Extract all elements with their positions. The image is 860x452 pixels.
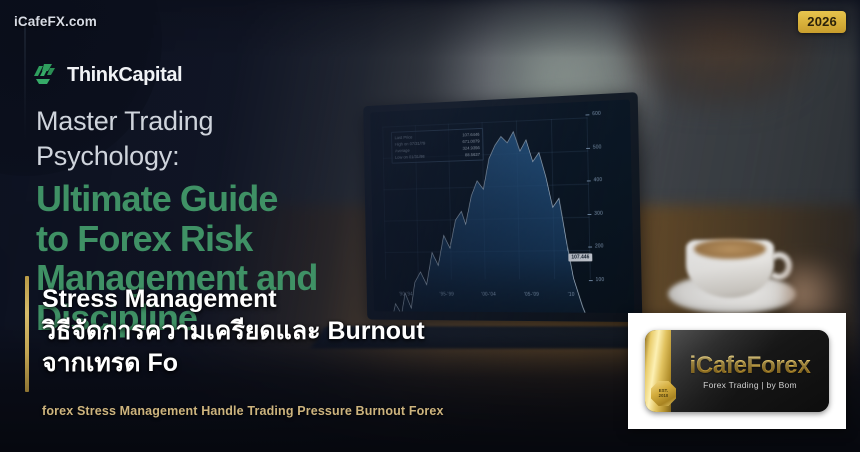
- tagline: forex Stress Management Handle Trading P…: [42, 404, 444, 418]
- article-kicker-line-1: Master Trading: [36, 104, 506, 139]
- article-headline-line-1: Ultimate Guide: [36, 179, 506, 219]
- overlay-headline: Stress Management วิธีจัดการความเครียดแล…: [42, 283, 642, 379]
- logo-title: iCafeForex: [671, 352, 829, 380]
- brand-name: ThinkCapital: [67, 64, 182, 87]
- article-kicker-line-2: Psychology:: [36, 139, 506, 174]
- logo-subtitle: Forex Trading | by Bom: [671, 380, 829, 390]
- seal-line-2: 2010: [659, 394, 669, 399]
- overlay-headline-line-2: วิธีจัดการความเครียดและ Burnout: [42, 315, 642, 347]
- promo-banner: Last Price 107.6446 High on 07/31/79 671…: [0, 0, 860, 452]
- article-kicker: Master Trading Psychology:: [36, 104, 506, 173]
- overlay-headline-line-3: จากเทรด Fo: [42, 347, 642, 379]
- est-seal-icon: EST. 2010: [651, 381, 676, 406]
- year-badge: 2026: [798, 11, 846, 33]
- site-watermark: iCafeFX.com: [14, 14, 97, 29]
- thinkcapital-logo-icon: [30, 60, 58, 91]
- article-headline-line-2: to Forex Risk: [36, 219, 506, 259]
- overlay-headline-line-1: Stress Management: [42, 283, 642, 315]
- logo-plate: iCafeForex Forex Trading | by Bom EST. 2…: [645, 330, 829, 412]
- corner-stem: [24, 20, 26, 140]
- accent-bar: [25, 276, 29, 392]
- brand-lockup: ThinkCapital: [30, 60, 182, 91]
- icafeforex-logo-card: iCafeForex Forex Trading | by Bom EST. 2…: [628, 313, 846, 429]
